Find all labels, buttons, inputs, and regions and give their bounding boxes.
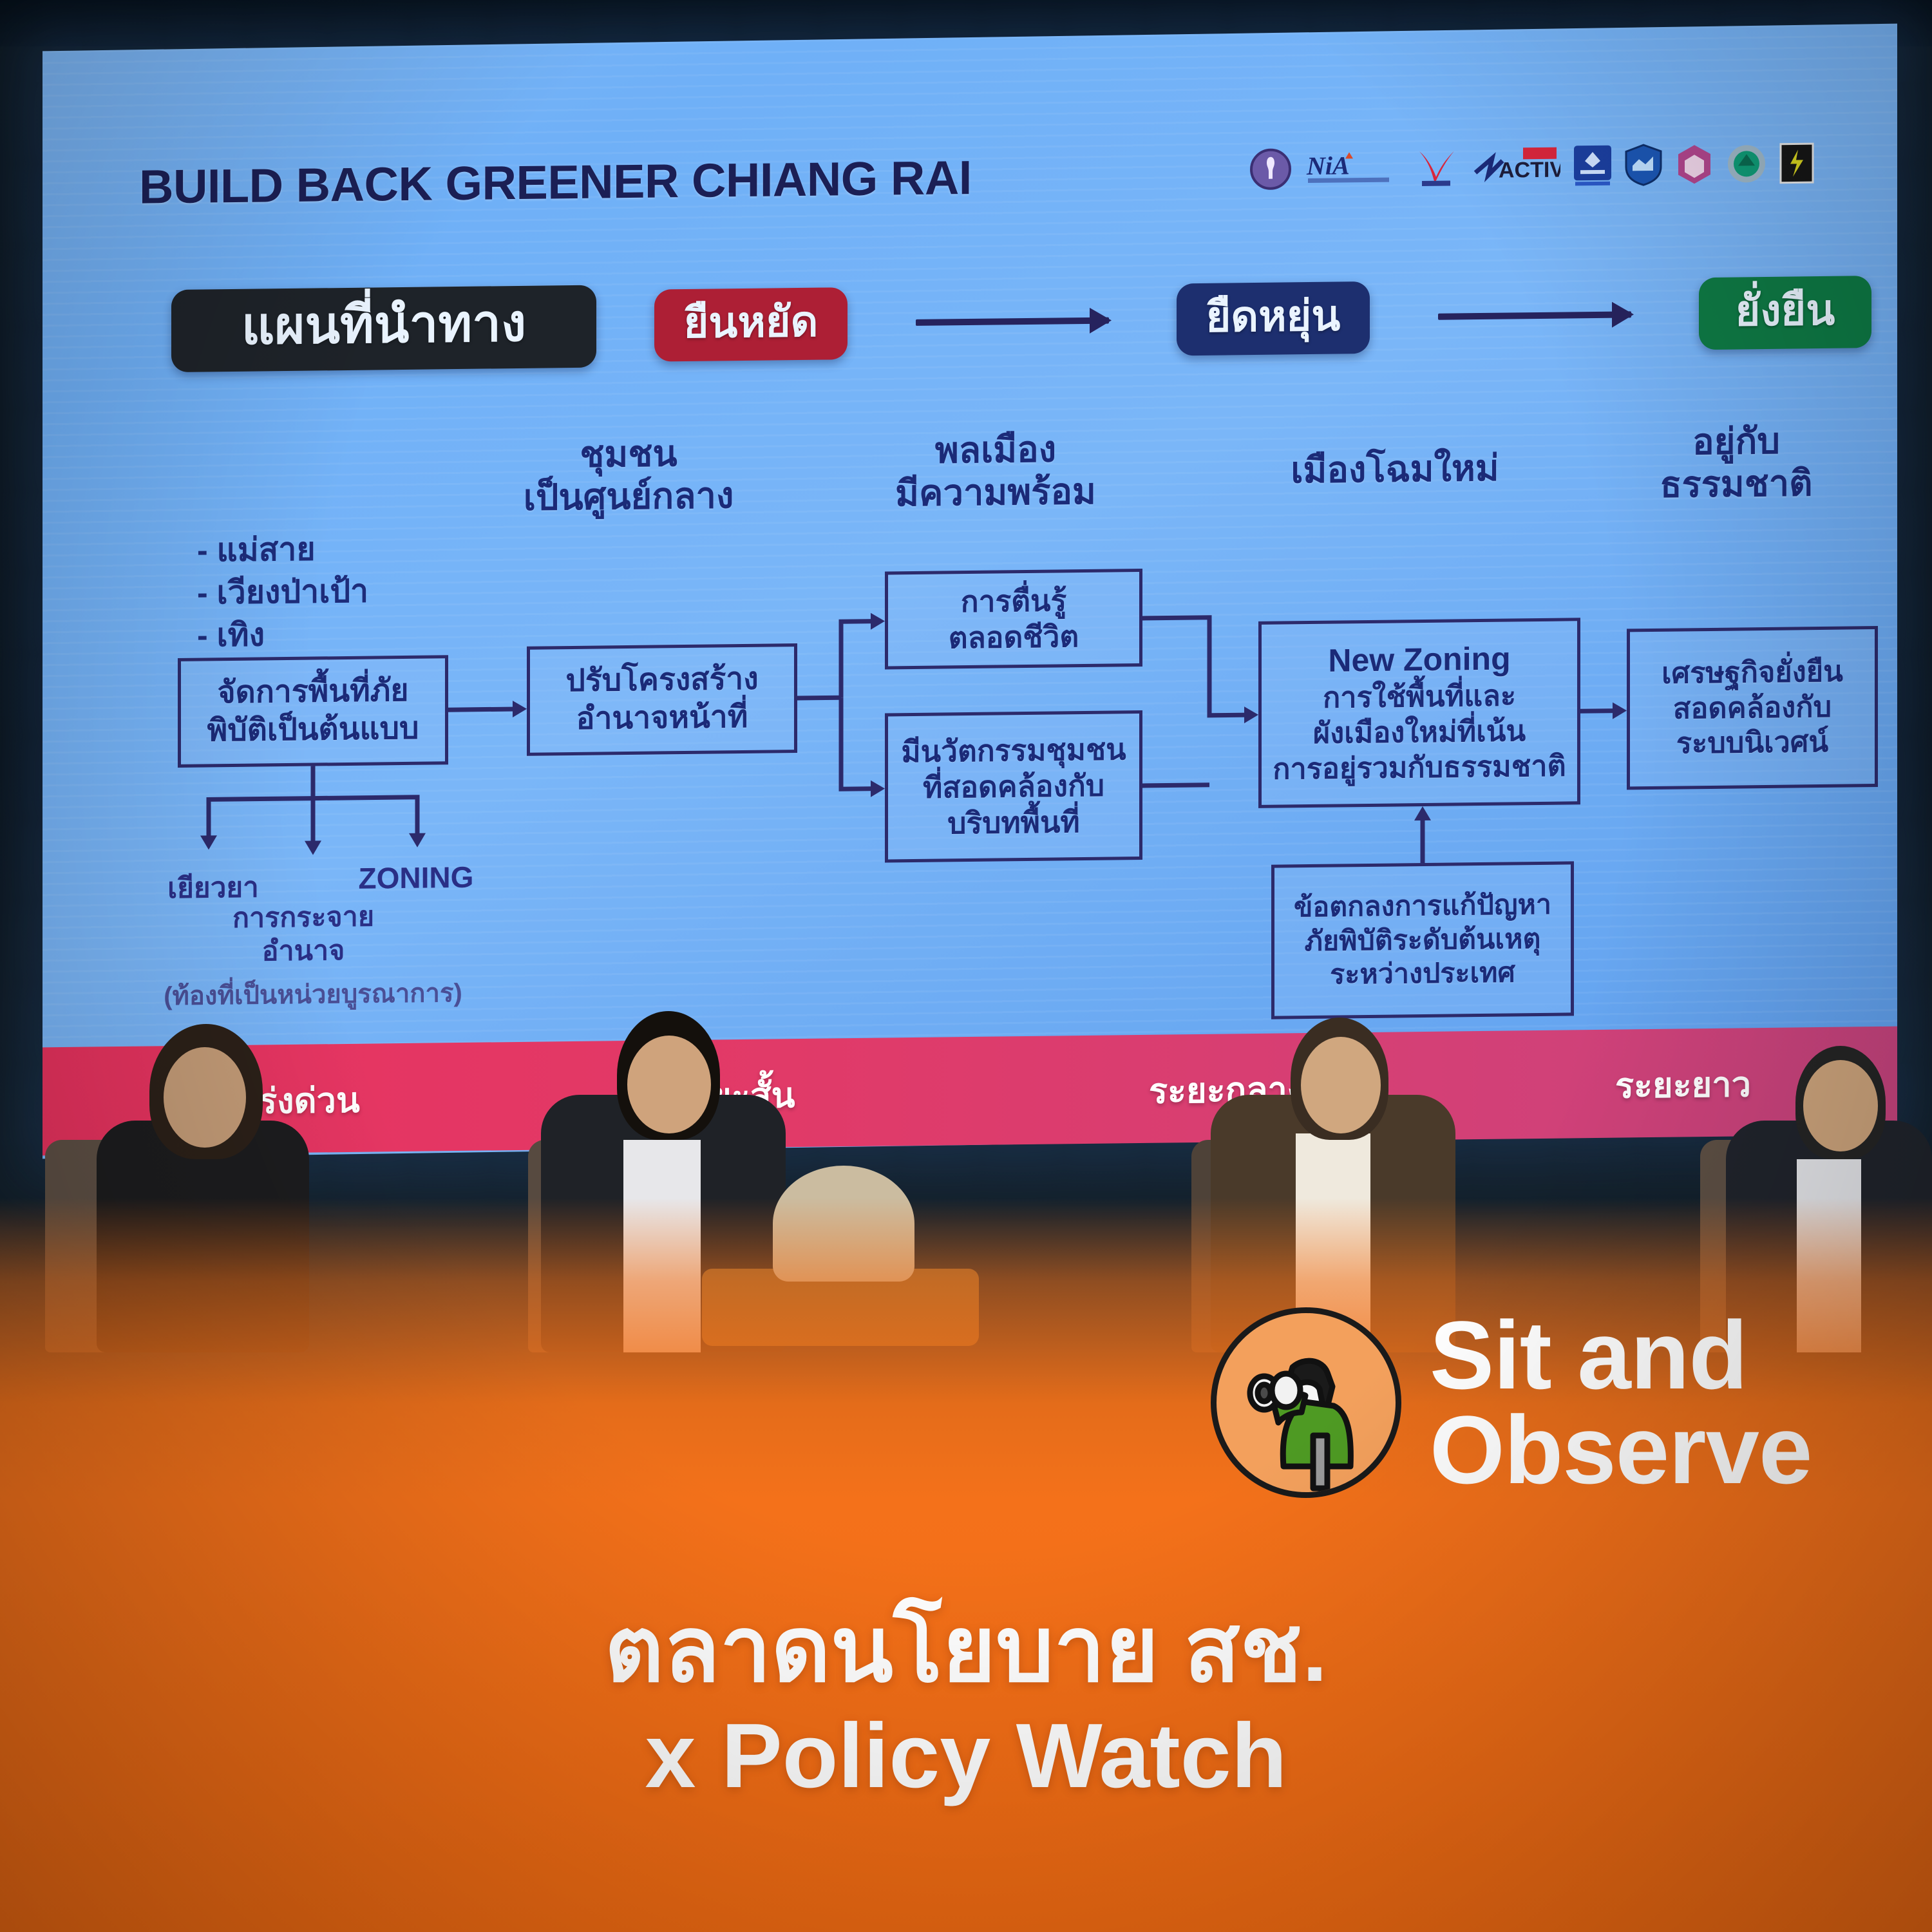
- stage-pill-resilient: ยืดหยุ่น: [1177, 281, 1370, 355]
- arrow-resilient-to-sustainable: [1370, 310, 1699, 321]
- thai-pbs-logo: [1413, 144, 1461, 191]
- caption-block: ตลาดนโยบาย สช. x Policy Watch: [0, 1597, 1932, 1809]
- column-header-citizens: พลเมือง มีความพร้อม: [860, 427, 1131, 515]
- column-header-community: ชุมชน เป็นศูนย์กลาง: [493, 431, 764, 520]
- svg-text:ACTIVE: ACTIVE: [1499, 157, 1560, 182]
- stage-pill-sustainable: ยั่งยืน: [1699, 276, 1871, 350]
- slide-title: BUILD BACK GREENER CHIANG RAI: [139, 150, 972, 214]
- brand-lockup: Sit and Observe: [1211, 1307, 1812, 1498]
- roadmap-stage-row: แผนที่นำทาง ยืนหยัด ยืดหยุ่น ยั่งยืน: [171, 267, 1871, 376]
- flow-box-sustainable-economy: เศรษฐกิจยั่งยืน สอดคล้องกับ ระบบนิเวศน์: [1627, 626, 1878, 790]
- brand-name: Sit and Observe: [1430, 1308, 1812, 1497]
- ministry-seal-logo: [1249, 146, 1292, 193]
- arrow-resist-to-resilient: [848, 316, 1177, 327]
- stage-pill-resist: ยืนหยัด: [654, 287, 848, 361]
- university-blue-logo: [1573, 142, 1613, 189]
- column-header-nature: อยู่กับ ธรรมชาติ: [1601, 419, 1871, 507]
- flow-box-lifelong-learning: การตื่นรู้ ตลอดชีวิต: [885, 569, 1142, 670]
- shield-blue-logo: [1625, 142, 1662, 189]
- flow-box-restructure: ปรับโครงสร้าง อำนาจหน้าที่: [527, 643, 797, 756]
- nia-logo: NiA: [1304, 144, 1401, 192]
- black-square-logo: [1779, 140, 1815, 187]
- hexagon-pink-logo: [1674, 141, 1714, 188]
- the-active-logo: ACTIVE: [1473, 143, 1560, 191]
- person-with-binoculars-icon: [1211, 1307, 1401, 1498]
- pilot-area-list: - แม่สาย - เวียงป่าเป้า - เทิง: [197, 527, 368, 657]
- sublabel-zoning: ZONING: [326, 859, 506, 896]
- flow-box-community-innovation: มีนวัตกรรมชุมชน ที่สอดคล้องกับ บริบทพื้น…: [885, 710, 1142, 863]
- green-circle-logo: [1727, 140, 1766, 187]
- list-item: - เวียงป่าเป้า: [197, 570, 368, 614]
- stage-backdrop: BUILD BACK GREENER CHIANG RAI NiA: [0, 0, 1932, 1932]
- flow-box-new-zoning: New Zoning การใช้พื้นที่และ ผังเมืองใหม่…: [1258, 618, 1580, 808]
- list-item: - เทิง: [197, 612, 368, 657]
- partner-logo-strip: NiA ACTIVE: [1249, 138, 1815, 194]
- svg-text:NiA: NiA: [1306, 151, 1350, 180]
- list-item: - แม่สาย: [197, 527, 368, 572]
- column-header-newcity: เมืองโฉมใหม่: [1247, 446, 1543, 492]
- roadmap-label-pill: แผนที่นำทาง: [171, 285, 596, 372]
- flow-box-disaster-area: จัดการพื้นที่ภัย พิบัติเป็นต้นแบบ: [178, 655, 448, 768]
